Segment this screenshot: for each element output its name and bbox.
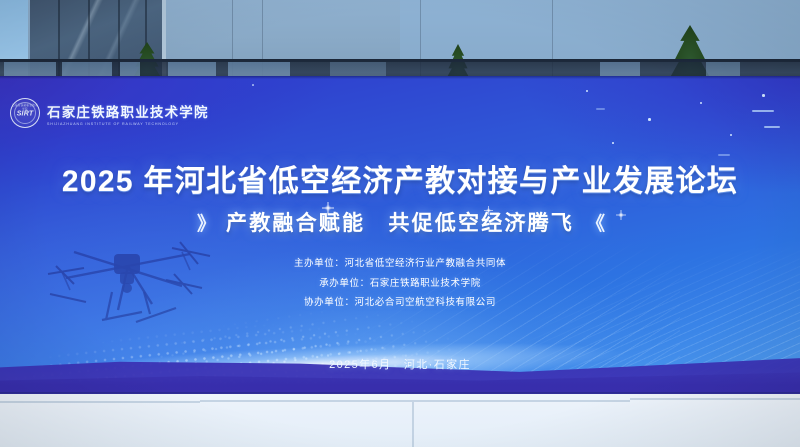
seal-emblem-icon: 石家庄铁路职业技术学院 SIRT <box>10 98 40 128</box>
particle-dot <box>648 118 651 121</box>
particle-dot <box>700 102 702 104</box>
forum-slogan-row: 》 产教融合赋能 共促低空经济腾飞 《 <box>0 207 800 237</box>
particle-dot <box>730 134 732 136</box>
logo-name-cn: 石家庄铁路职业技术学院 <box>47 101 209 121</box>
seal-arc-text: 石家庄铁路职业技术学院 <box>11 103 39 111</box>
particle-dot <box>586 90 588 92</box>
forum-title: 2025 年河北省低空经济产教对接与产业发展论坛 <box>0 156 800 200</box>
forum-slogan: 产教融合赋能 共促低空经济腾飞 <box>226 207 574 237</box>
screenshot-scene: 石家庄铁路职业技术学院 SIRT 石家庄铁路职业技术学院 SHIJIAZHUAN… <box>0 0 800 447</box>
organizer-undertaker: 承办单位：石家庄铁路职业技术学院 <box>0 274 800 294</box>
chevron-left-icon: 《 <box>586 209 603 236</box>
logo-text-group: 石家庄铁路职业技术学院 SHIJIAZHUANG INSTITUTE OF RA… <box>47 101 209 126</box>
organizer-list: 主办单位：河北省低空经济行业产教融合共同体 承办单位：石家庄铁路职业技术学院 协… <box>0 254 800 313</box>
date-and-location: 2025年6月 河北·石家庄 <box>0 356 800 372</box>
particle-dot <box>252 84 254 86</box>
particle-dash <box>764 126 780 128</box>
floor-seam <box>200 400 630 402</box>
floor-seam-vertical <box>412 402 414 447</box>
floor-seam <box>630 398 800 400</box>
institution-logo: 石家庄铁路职业技术学院 SIRT 石家庄铁路职业技术学院 SHIJIAZHUAN… <box>10 98 209 128</box>
floor-seam <box>0 401 200 403</box>
particle-dash <box>752 110 774 112</box>
particle-dash <box>596 108 605 110</box>
logo-name-en: SHIJIAZHUANG INSTITUTE OF RAILWAY TECHNO… <box>47 121 209 125</box>
forum-backdrop-banner: 石家庄铁路职业技术学院 SIRT 石家庄铁路职业技术学院 SHIJIAZHUAN… <box>0 76 800 394</box>
particle-dot <box>762 94 765 97</box>
banner-top-edge <box>0 76 800 79</box>
chevron-right-icon: 》 <box>197 209 214 236</box>
particle-dot <box>612 142 614 144</box>
seal-monogram: SIRT <box>17 110 34 117</box>
organizer-host: 主办单位：河北省低空经济行业产教融合共同体 <box>0 254 800 274</box>
white-tiled-floor <box>0 394 800 447</box>
organizer-coorganizer: 协办单位：河北必合司空航空科技有限公司 <box>0 293 800 313</box>
